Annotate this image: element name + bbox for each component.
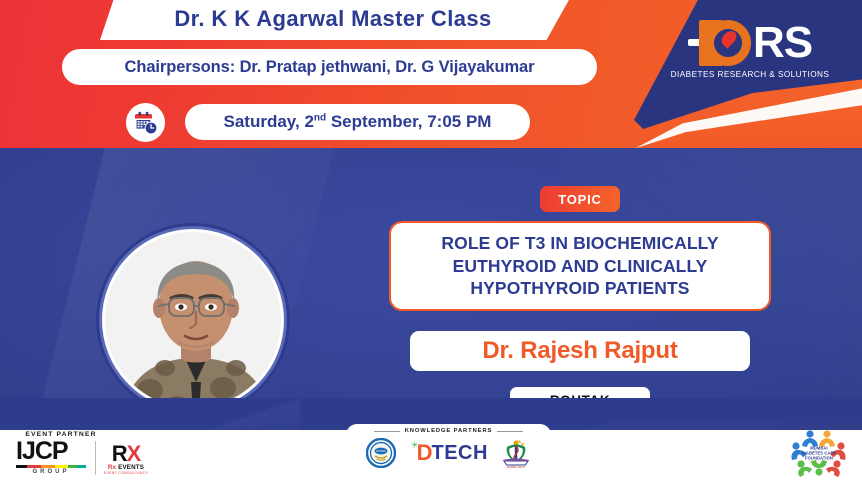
speaker-name-card: Dr. Rajesh Rajput bbox=[410, 331, 750, 371]
chairpersons-pill: Chairpersons: Dr. Pratap jethwani, Dr. G… bbox=[62, 49, 597, 85]
chairpersons-text: Chairpersons: Dr. Pratap jethwani, Dr. G… bbox=[125, 58, 535, 77]
rx-events-logo: RX Rx EVENTS EVENT CONSULTANCY bbox=[103, 444, 149, 475]
ijcp-sublabel: GROUP bbox=[16, 469, 86, 475]
date-time-text: Saturday, 2nd September, 7:05 PM bbox=[224, 112, 492, 132]
rx-monogram-icon: RX bbox=[103, 444, 149, 464]
rx-events-name: Rx EVENTS bbox=[103, 464, 149, 471]
dtech-logo: ✳ D TECH bbox=[409, 442, 488, 464]
masterclass-title: Dr. K K Agarwal Master Class bbox=[174, 6, 491, 32]
ijcp-logo: IJCP GROUP bbox=[16, 440, 88, 475]
drs-logo-mark: RS bbox=[652, 18, 848, 68]
kp-rule-left bbox=[374, 431, 400, 432]
event-partner-block: EVENT PARTNER IJCP GROUP RX Rx EVENTS EV… bbox=[16, 431, 166, 475]
dtech-letters-tech: TECH bbox=[431, 443, 487, 463]
topic-badge: TOPIC bbox=[540, 186, 620, 212]
rssdi-logo: RSSDI bbox=[366, 438, 396, 468]
ijcp-color-bar bbox=[16, 465, 86, 468]
topic-title-card: ROLE OF T3 IN BIOCHEMICALLY EUTHYROID AN… bbox=[389, 221, 771, 311]
calendar-clock-icon bbox=[126, 103, 165, 142]
mdcf-logo: MUMBAI DIABETES CARE FOUNDATION bbox=[788, 427, 850, 479]
svg-text:RSSDI: RSSDI bbox=[376, 449, 386, 453]
masterclass-title-ribbon: Dr. K K Agarwal Master Class bbox=[100, 0, 570, 40]
rx-events-tagline: EVENT CONSULTANCY bbox=[103, 471, 149, 475]
drs-letters-rs: RS bbox=[753, 21, 812, 65]
knowledge-partners-block: KNOWLEDGE PARTNERS RSSDI ✳ D TECH bbox=[346, 424, 551, 482]
partner-divider bbox=[95, 441, 96, 475]
date-time-pill: Saturday, 2nd September, 7:05 PM bbox=[185, 104, 530, 140]
svg-text:MUMBAI WEST: MUMBAI WEST bbox=[507, 465, 526, 469]
nmo-logo: MUMBAI WEST bbox=[501, 437, 531, 469]
topic-badge-label: TOPIC bbox=[558, 192, 602, 207]
drs-logo: RS DIABETES RESEARCH & SOLUTIONS bbox=[652, 18, 848, 79]
dtech-star-icon: ✳ bbox=[411, 441, 419, 450]
kp-rule-right bbox=[497, 431, 523, 432]
mdcf-name: MUMBAI DIABETES CARE FOUNDATION bbox=[799, 445, 839, 460]
event-banner: RS DIABETES RESEARCH & SOLUTIONS Dr. K K… bbox=[0, 0, 862, 482]
speaker-portrait bbox=[105, 232, 281, 408]
banner-header: RS DIABETES RESEARCH & SOLUTIONS Dr. K K… bbox=[0, 0, 862, 148]
ijcp-wordmark: IJCP bbox=[16, 440, 88, 464]
drs-letter-d-icon bbox=[705, 20, 751, 66]
knowledge-partners-label: KNOWLEDGE PARTNERS bbox=[405, 428, 493, 434]
speaker-avatar bbox=[99, 226, 287, 414]
topic-title: ROLE OF T3 IN BIOCHEMICALLY EUTHYROID AN… bbox=[399, 232, 761, 299]
drs-tagline: DIABETES RESEARCH & SOLUTIONS bbox=[652, 70, 848, 79]
speaker-name: Dr. Rajesh Rajput bbox=[482, 337, 677, 365]
